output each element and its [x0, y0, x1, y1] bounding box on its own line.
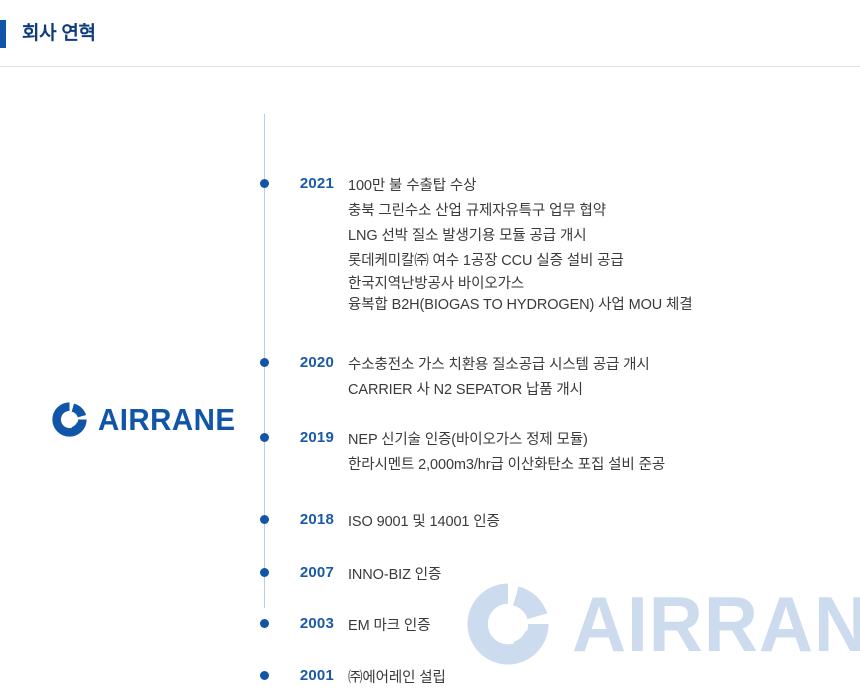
- timeline-event-list: NEP 신기술 인증(바이오가스 정제 모듈)한라시멘트 2,000m3/hr급…: [348, 428, 818, 478]
- timeline-event: 한국지역난방공사 바이오가스: [348, 274, 818, 295]
- timeline-event-list: ㈜에어레인 설립: [348, 666, 818, 691]
- company-history-timeline: 2021100만 불 수출탑 수상충북 그린수소 산업 규제자유특구 업무 협약…: [0, 66, 860, 680]
- timeline-dot-icon: [260, 433, 269, 442]
- timeline-event-list: 100만 불 수출탑 수상충북 그린수소 산업 규제자유특구 업무 협약LNG …: [348, 174, 818, 316]
- timeline-dot-icon: [260, 568, 269, 577]
- timeline-event-list: INNO-BIZ 인증: [348, 563, 818, 588]
- timeline-event-list: ISO 9001 및 14001 인증: [348, 510, 818, 535]
- timeline-year: 2003: [270, 614, 334, 633]
- timeline-year: 2019: [270, 428, 334, 447]
- timeline-event-list: 수소충전소 가스 치환용 질소공급 시스템 공급 개시CARRIER 사 N2 …: [348, 353, 818, 403]
- timeline-event: 100만 불 수출탑 수상: [348, 174, 818, 199]
- timeline-event: ISO 9001 및 14001 인증: [348, 510, 818, 535]
- timeline-event: EM 마크 인증: [348, 614, 818, 639]
- timeline-event: 롯데케미칼㈜ 여수 1공장 CCU 실증 설비 공급: [348, 249, 818, 274]
- timeline-event: 수소충전소 가스 치환용 질소공급 시스템 공급 개시: [348, 353, 818, 378]
- timeline-year: 2007: [270, 563, 334, 582]
- timeline-dot-icon: [260, 671, 269, 680]
- timeline-event: 융복합 B2H(BIOGAS TO HYDROGEN) 사업 MOU 체결: [348, 295, 818, 316]
- timeline-year: 2020: [270, 353, 334, 372]
- timeline-event: ㈜에어레인 설립: [348, 666, 818, 691]
- header-accent-bar: [0, 20, 6, 48]
- history-content: AIRRANE AIRRANE 2021100만 불 수출탑 수상충북 그린수소…: [0, 66, 860, 680]
- timeline-year: 2021: [270, 174, 334, 193]
- page-header: 회사 연혁: [0, 0, 860, 66]
- timeline-year: 2018: [270, 510, 334, 529]
- page-title: 회사 연혁: [22, 19, 96, 49]
- timeline-event: 한라시멘트 2,000m3/hr급 이산화탄소 포집 설비 준공: [348, 453, 818, 478]
- timeline-event-list: EM 마크 인증: [348, 614, 818, 639]
- timeline-dot-icon: [260, 515, 269, 524]
- timeline-dot-icon: [260, 358, 269, 367]
- timeline-event: 충북 그린수소 산업 규제자유특구 업무 협약: [348, 199, 818, 224]
- timeline-dot-icon: [260, 619, 269, 628]
- timeline-event: CARRIER 사 N2 SEPATOR 납품 개시: [348, 378, 818, 403]
- timeline-event: NEP 신기술 인증(바이오가스 정제 모듈): [348, 428, 818, 453]
- timeline-year: 2001: [270, 666, 334, 685]
- timeline-event: INNO-BIZ 인증: [348, 563, 818, 588]
- timeline-event: LNG 선박 질소 발생기용 모듈 공급 개시: [348, 224, 818, 249]
- timeline-dot-icon: [260, 179, 269, 188]
